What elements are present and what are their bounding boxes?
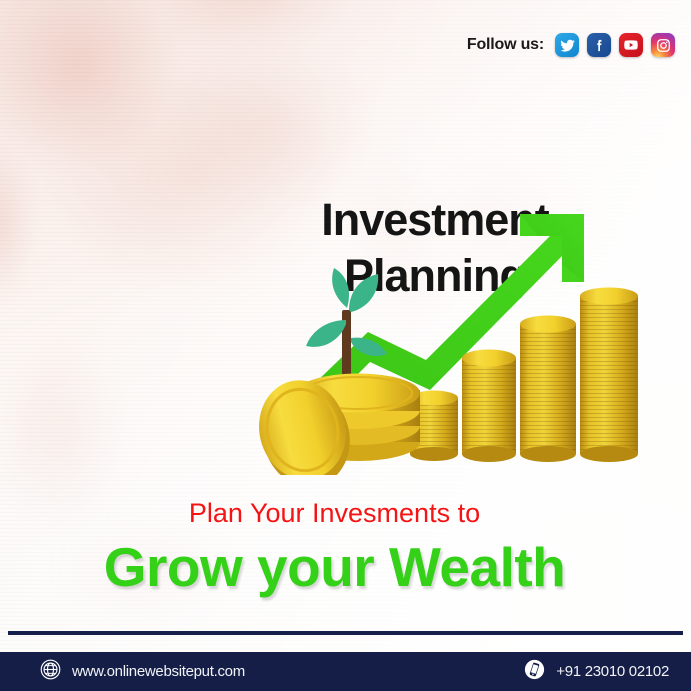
footer-website[interactable]: www.onlinewebsiteput.com <box>40 659 245 684</box>
footer-bar: www.onlinewebsiteput.com +91 23010 02102 <box>0 652 691 691</box>
footer-divider <box>8 631 683 635</box>
facebook-icon[interactable] <box>587 33 611 57</box>
footer-phone-text: +91 23010 02102 <box>556 663 669 680</box>
coin-stack-3 <box>520 316 576 463</box>
tagline-headline: Grow your Wealth <box>0 535 669 599</box>
investment-growth-illustration <box>250 190 650 475</box>
globe-icon <box>40 659 61 684</box>
investment-planning-poster: Follow us: Investment <box>0 0 691 691</box>
coin-stack-2 <box>462 350 516 463</box>
follow-us-label: Follow us: <box>467 36 544 54</box>
instagram-icon[interactable] <box>651 33 675 57</box>
twitter-icon[interactable] <box>555 33 579 57</box>
social-follow-row: Follow us: <box>467 33 675 57</box>
footer-phone[interactable]: +91 23010 02102 <box>524 659 669 684</box>
youtube-icon[interactable] <box>619 33 643 57</box>
mobile-phone-icon <box>524 659 545 684</box>
coin-stack-4 <box>580 288 638 463</box>
footer-website-text: www.onlinewebsiteput.com <box>72 663 245 680</box>
tagline-primary: Plan Your Invesments to <box>0 498 669 529</box>
